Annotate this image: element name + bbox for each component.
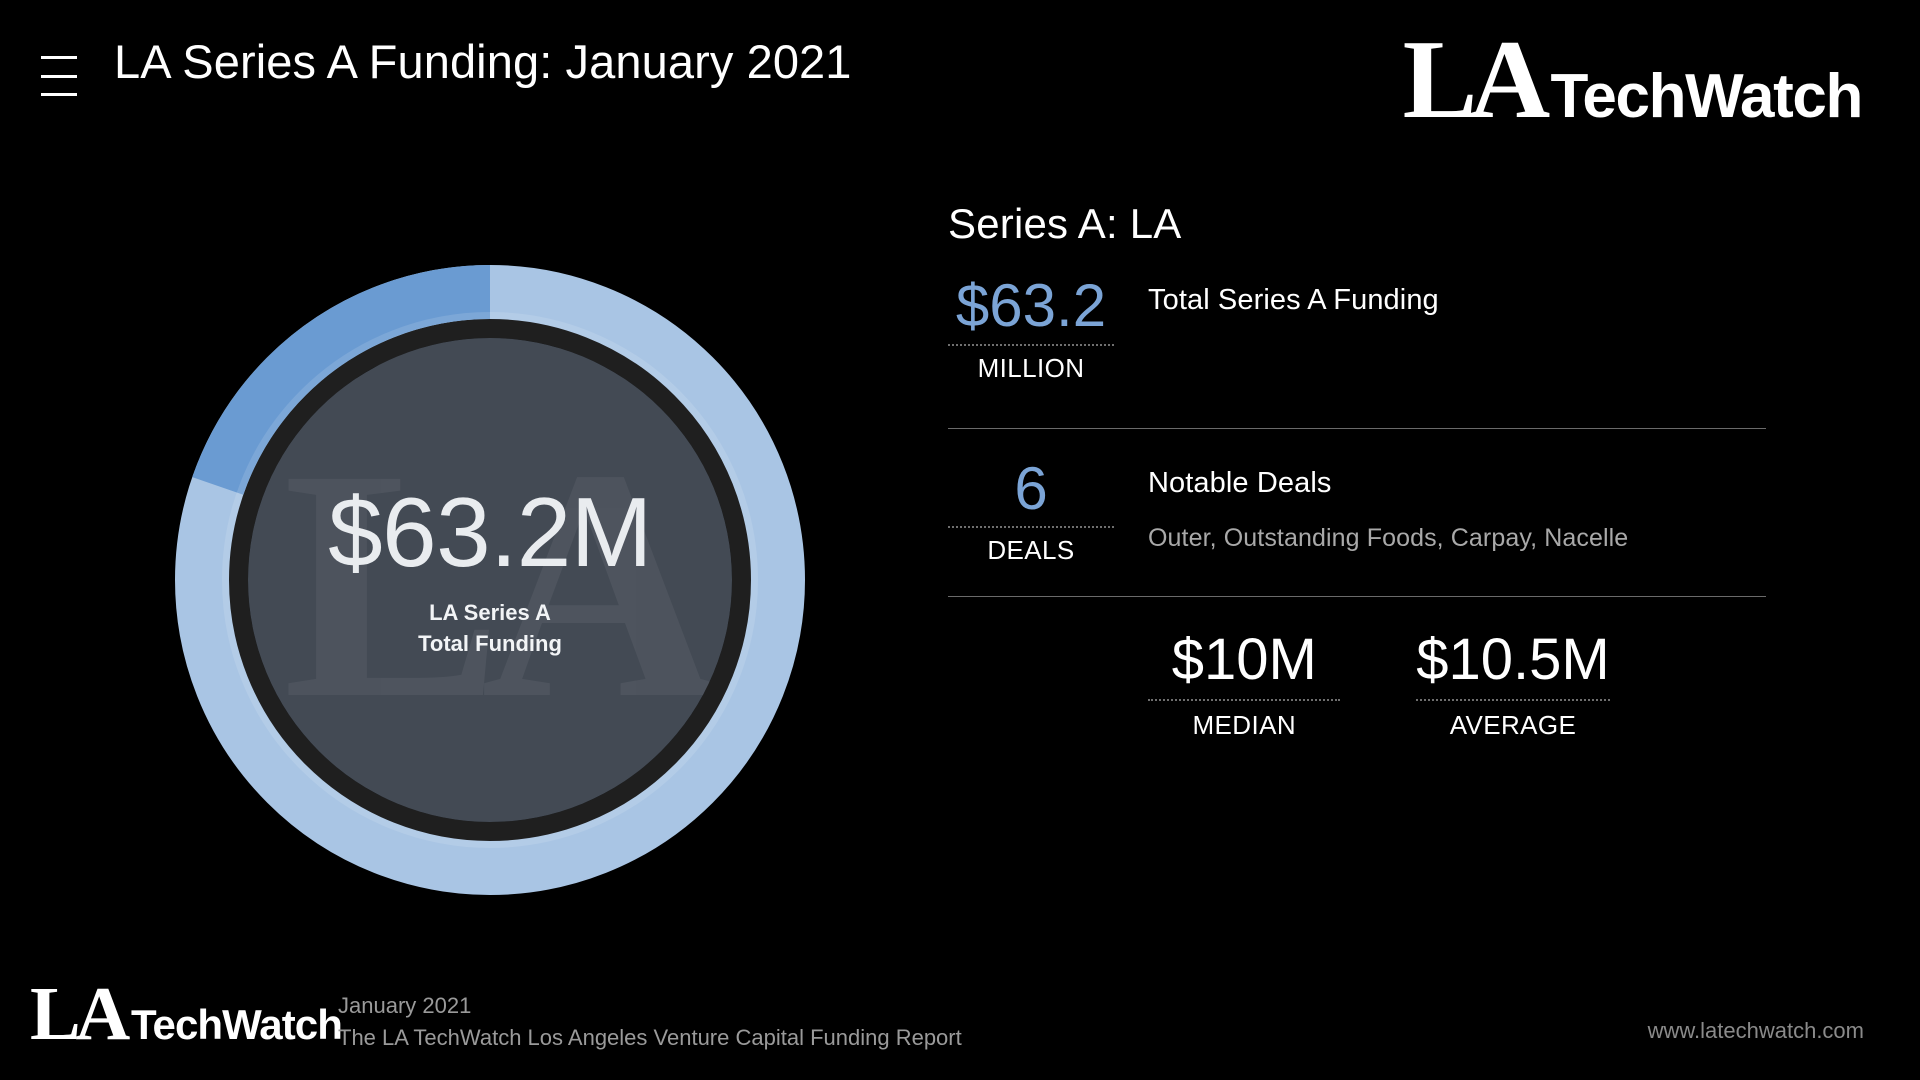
logo-wordmark: TechWatch bbox=[1550, 66, 1862, 128]
footer-logo-mark: LA bbox=[30, 976, 125, 1052]
page-title: LA Series A Funding: January 2021 bbox=[114, 34, 852, 89]
footer-caption: January 2021 The LA TechWatch Los Angele… bbox=[338, 990, 962, 1054]
footer-logo-wordmark: TechWatch bbox=[131, 1004, 342, 1046]
hamburger-line bbox=[41, 56, 77, 59]
median-label: MEDIAN bbox=[1148, 710, 1340, 741]
total-funding-figure: $63.2 MILLION bbox=[948, 274, 1114, 384]
stats-panel-title: Series A: LA bbox=[948, 200, 1766, 248]
average-number: $10.5M bbox=[1416, 629, 1609, 690]
median-figure: $10M MEDIAN bbox=[1148, 629, 1340, 740]
footer-date: January 2021 bbox=[338, 990, 962, 1022]
average-figure: $10.5M AVERAGE bbox=[1416, 629, 1609, 740]
total-funding-dotted-rule bbox=[948, 344, 1114, 346]
footer-logo[interactable]: LA TechWatch bbox=[30, 976, 342, 1052]
hamburger-line bbox=[41, 93, 77, 96]
hamburger-line bbox=[41, 75, 77, 78]
deals-dotted-rule bbox=[948, 526, 1114, 528]
donut-chart: LA $63.2M LA Series A Total Funding bbox=[175, 265, 805, 895]
header-bar: LA Series A Funding: January 2021 LA Tec… bbox=[0, 0, 1920, 150]
divider-1 bbox=[948, 428, 1766, 429]
deals-number: 6 bbox=[948, 457, 1114, 521]
stat-row-total-funding: $63.2 MILLION Total Series A Funding bbox=[948, 274, 1766, 384]
stat-row-median-average: $10M MEDIAN $10.5M AVERAGE bbox=[948, 629, 1766, 740]
deals-label: Notable Deals bbox=[1148, 467, 1628, 500]
deals-company-list: Outer, Outstanding Foods, Carpay, Nacell… bbox=[1148, 524, 1628, 553]
stat-row-notable-deals: 6 DEALS Notable Deals Outer, Outstanding… bbox=[948, 457, 1766, 567]
total-funding-body: Total Series A Funding bbox=[1114, 274, 1439, 317]
total-funding-unit: MILLION bbox=[948, 353, 1114, 384]
footer-url[interactable]: www.latechwatch.com bbox=[1648, 1018, 1864, 1044]
median-number: $10M bbox=[1148, 629, 1340, 690]
divider-2 bbox=[948, 596, 1766, 597]
average-dotted-rule bbox=[1416, 699, 1609, 701]
footer-report-title: The LA TechWatch Los Angeles Venture Cap… bbox=[338, 1022, 962, 1054]
total-funding-label: Total Series A Funding bbox=[1148, 284, 1439, 317]
stats-panel: Series A: LA $63.2 MILLION Total Series … bbox=[948, 200, 1766, 741]
deals-unit: DEALS bbox=[948, 535, 1114, 566]
average-label: AVERAGE bbox=[1416, 710, 1609, 741]
donut-watermark: LA bbox=[283, 402, 718, 767]
donut-svg: LA bbox=[175, 265, 805, 895]
logo-mark: LA bbox=[1403, 24, 1543, 136]
donut-watermark-text: LA bbox=[283, 402, 718, 767]
hamburger-icon[interactable] bbox=[41, 56, 77, 96]
median-dotted-rule bbox=[1148, 699, 1340, 701]
deals-body: Notable Deals Outer, Outstanding Foods, … bbox=[1114, 457, 1628, 553]
header-logo[interactable]: LA TechWatch bbox=[1403, 24, 1862, 136]
total-funding-number: $63.2 bbox=[948, 274, 1114, 338]
deals-figure: 6 DEALS bbox=[948, 457, 1114, 567]
